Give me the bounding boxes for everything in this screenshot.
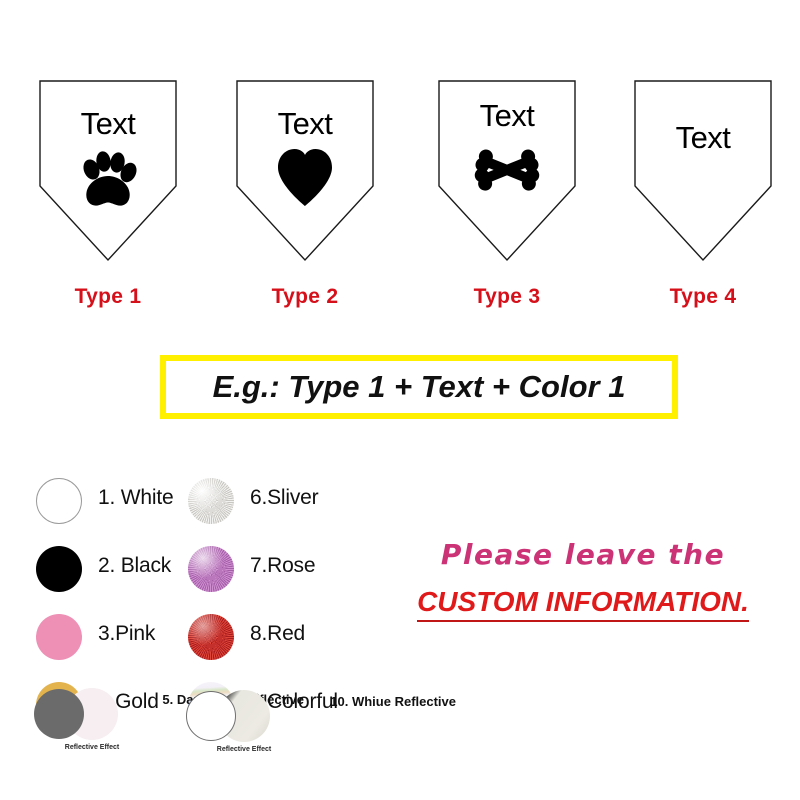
bandana-preview-4: Text [631, 78, 775, 264]
color-swatch-sliver [188, 478, 234, 524]
color-swatch-white [36, 478, 82, 524]
bandana-type-label-1: Type 1 [13, 285, 203, 309]
color-swatch-dark-gray-reflective [34, 688, 144, 740]
color-swatch-black [36, 546, 82, 592]
bandana-type-label-3: Type 3 [412, 285, 602, 309]
base-color-disc [34, 689, 84, 739]
example-order-format-text: E.g.: Type 1 + Text + Color 1 [213, 369, 626, 405]
bandana-type-row: Text Type 1 Text [0, 78, 800, 323]
bandana-sample-text-3: Text [435, 100, 579, 131]
paw-print-icon [77, 150, 139, 215]
heart-icon [274, 146, 336, 213]
base-color-disc [186, 691, 236, 741]
bandana-type-option-3[interactable]: Text [412, 78, 602, 323]
reflective-effect-caption-5: Reflective Effect [56, 744, 128, 752]
color-label-sliver: 6.Sliver [250, 486, 318, 510]
reflective-effect-caption-10: Reflective Effect [208, 746, 280, 754]
example-order-format-box: E.g.: Type 1 + Text + Color 1 [160, 355, 678, 419]
bandana-shape-icon [631, 78, 775, 264]
bandana-type-label-4: Type 4 [608, 285, 798, 309]
color-swatch-white-reflective [186, 690, 296, 742]
color-swatch-rose [188, 546, 234, 592]
bandana-sample-text-1: Text [36, 108, 180, 139]
bandana-type-option-4[interactable]: Text Type 4 [608, 78, 798, 323]
bandana-sample-text-2: Text [233, 108, 377, 139]
color-label-rose: 7.Rose [250, 554, 315, 578]
color-label-white-reflective: 10. Whiue Reflective [306, 694, 456, 710]
color-options-list: 1. White 2. Black 3.Pink 4.Gold 6.Sliver… [36, 478, 366, 758]
bandana-type-option-1[interactable]: Text Type 1 [13, 78, 203, 323]
bandana-type-option-2[interactable]: Text Type 2 [210, 78, 400, 323]
custom-info-line-2: CUSTOM INFORMATION. [417, 586, 749, 622]
bandana-preview-2: Text [233, 78, 377, 264]
color-label-red: 8.Red [250, 622, 305, 646]
color-label-white: 1. White [98, 486, 173, 510]
custom-information-notice: Please leave the CUSTOM INFORMATION. [378, 538, 788, 622]
color-label-black: 2. Black [98, 554, 171, 578]
crossed-bones-icon [468, 144, 546, 203]
bandana-sample-text-4: Text [631, 122, 775, 153]
bandana-preview-1: Text [36, 78, 180, 264]
custom-info-line-1: Please leave the [378, 538, 788, 572]
bandana-preview-3: Text [435, 78, 579, 264]
color-swatch-red [188, 614, 234, 660]
bandana-type-label-2: Type 2 [210, 285, 400, 309]
color-swatch-pink [36, 614, 82, 660]
color-label-pink: 3.Pink [98, 622, 155, 646]
